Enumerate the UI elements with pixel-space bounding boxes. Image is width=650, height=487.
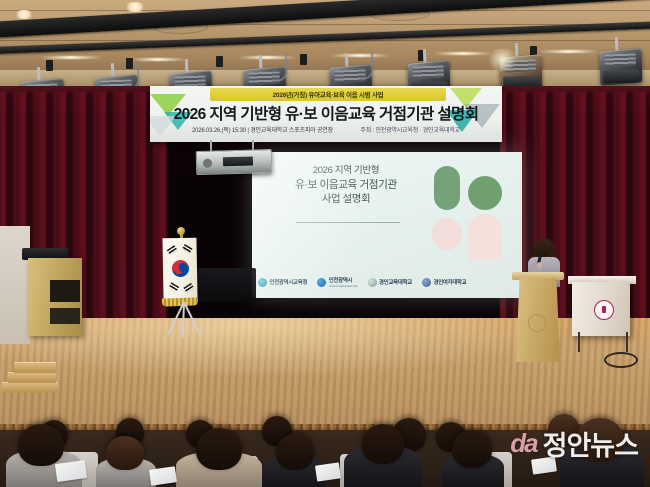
event-photo: 2026년(가칭) 유아교육·보육 이음 시범 사업 2026 지역 기반형 유…: [0, 0, 650, 487]
slide-shape-green-circle: [468, 176, 502, 210]
banner-datetime-venue: 2026.03.26.(목) 15:30 | 경인교육대학교 스포츠피아 공연장: [192, 128, 333, 134]
slide-logo-bar: 인천광역시교육청 인천광역시Incheon Metropolitan City …: [258, 272, 516, 292]
banner-top-strip: 2026년(가칭) 유아교육·보육 이음 시범 사업: [210, 88, 446, 101]
slide-title-line2: 유·보 이음교육 거점기관: [262, 178, 430, 193]
education-office-logo-icon: [258, 278, 267, 287]
audience-head: [576, 418, 624, 462]
banner-top-strip-text: 2026년(가칭) 유아교육·보육 이음 시범 사업: [273, 90, 384, 99]
taegukgi-cloth: [162, 238, 197, 301]
logo-label: 인천광역시교육청: [270, 278, 308, 286]
projector-icon: [196, 149, 273, 175]
audience-head: [276, 434, 314, 470]
logo-item: 경인교육대학교: [368, 278, 412, 287]
side-wall-left: [0, 226, 30, 344]
event-banner: 2026년(가칭) 유아교육·보육 이음 시범 사업 2026 지역 기반형 유…: [150, 86, 502, 142]
stage-side-cabinet: [28, 258, 82, 336]
audience-head: [18, 424, 64, 466]
audience-handout: [315, 462, 341, 481]
slide-shape-pink-arch: [468, 214, 502, 260]
logo-item: 경인여자대학교: [422, 278, 466, 287]
banner-title: 2026 지역 기반형 유·보 이음교육 거점기관 설명회: [150, 102, 502, 124]
projection-screen: 2026 지역 기반형 유·보 이음교육 거점기관 사업 설명회 인천광역시교육…: [252, 152, 522, 298]
taeguk-symbol-icon: [172, 260, 189, 277]
incheon-city-logo-icon: [317, 278, 326, 287]
ceiling-downlight-icon: [14, 10, 34, 19]
slide-title: 2026 지역 기반형 유·보 이음교육 거점기관 사업 설명회: [262, 164, 430, 207]
speaking-podium: [516, 278, 560, 362]
logo-label: 인천광역시Incheon Metropolitan City: [329, 276, 358, 288]
banner-hosts: 주최 : 인천광역시교육청 · 경인교육대학교: [360, 128, 460, 134]
side-table-legs: [576, 332, 630, 354]
slide-divider: [296, 222, 400, 223]
logo-label: 경인여자대학교: [434, 278, 467, 286]
logo-item: 인천광역시Incheon Metropolitan City: [317, 276, 357, 288]
korean-flag: [152, 232, 214, 340]
gyeongin-university-logo-icon: [368, 278, 377, 287]
gyeongin-womens-university-logo-icon: [422, 278, 431, 287]
banner-subline: 2026.03.26.(목) 15:30 | 경인교육대학교 스포츠피아 공연장…: [150, 125, 502, 134]
logo-sublabel: Incheon Metropolitan City: [329, 284, 358, 288]
university-emblem-icon: [594, 300, 614, 320]
audience-head: [106, 436, 144, 470]
stage-side-table: [572, 282, 630, 336]
floor-cable-coil: [604, 352, 638, 368]
logo-label: 경인교육대학교: [379, 278, 412, 286]
slide-title-line3: 사업 설명회: [262, 193, 430, 208]
podium-emblem-icon: [528, 314, 546, 332]
slide-title-line1: 2026 지역 기반형: [262, 164, 430, 178]
logo-item: 인천광역시교육청: [258, 278, 307, 287]
slide-shape-green-pill: [434, 166, 460, 210]
stage-spotlight-icon: [599, 45, 643, 90]
audience-head: [362, 424, 404, 464]
audience-head: [196, 428, 242, 470]
stage-steps: [2, 352, 94, 398]
ceiling-downlight-icon: [124, 2, 146, 12]
flag-tripod-stand: [166, 302, 200, 340]
slide-shape-pink-circle: [432, 218, 462, 250]
audience-head: [452, 430, 492, 468]
